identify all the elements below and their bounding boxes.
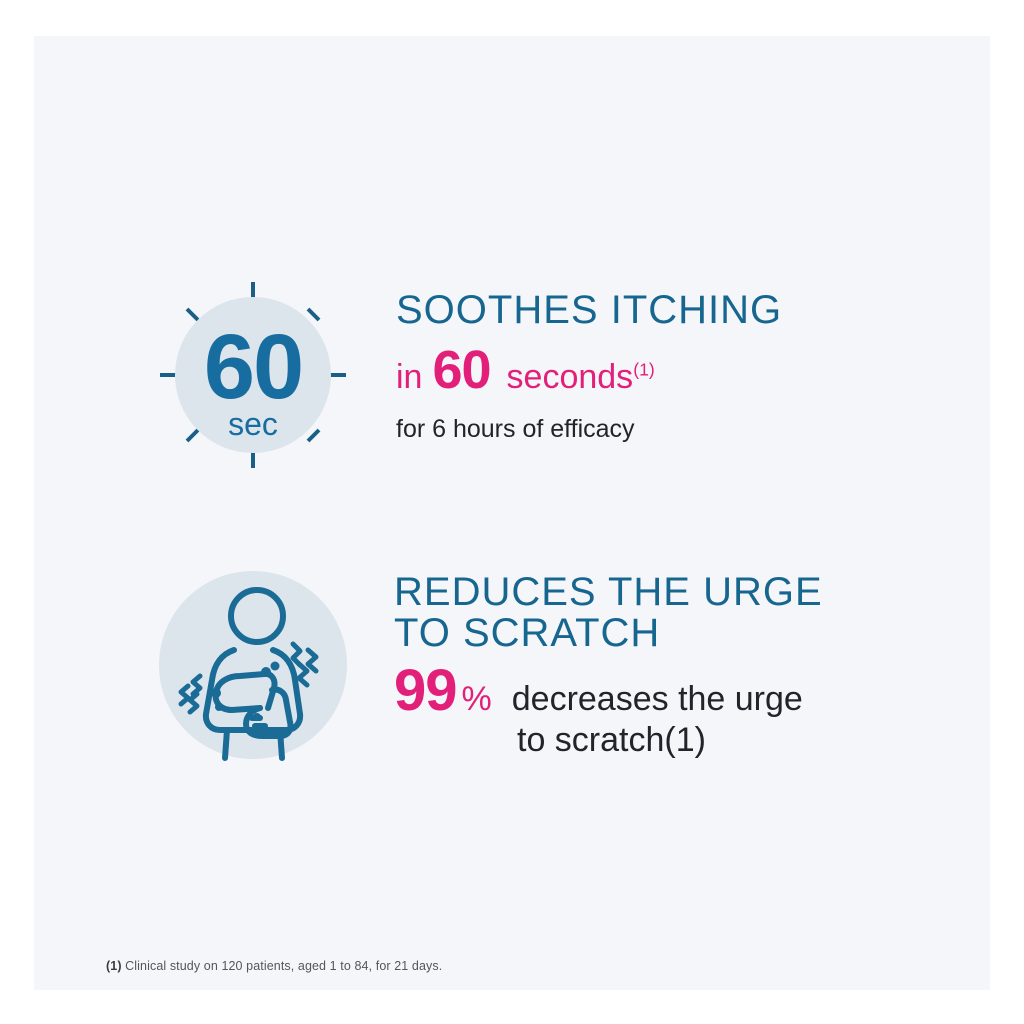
feature-2-stat-description-line-1: decreases the urge [512,681,803,717]
feature-1-text: SOOTHES ITCHING in 60 seconds(1) for 6 h… [396,280,782,444]
person-scratching-arm-icon [156,568,350,762]
infographic-page: 60 sec SOOTHES ITCHING in 60 seconds(1) … [0,0,1024,1024]
feature-2-stat-line-2: to scratch(1) [517,722,823,758]
feature-1-stat-tail-text: seconds [507,358,634,396]
footnote-marker: (1) [106,959,122,973]
feature-block-reduces-urge: REDUCES THE URGE TO SCRATCH 99 % decreas… [156,568,823,762]
svg-text:60: 60 [204,316,302,418]
feature-1-stat: in 60 seconds(1) [396,343,782,397]
feature-2-stat-description-line-2: to scratch [517,722,664,758]
sixty-second-stopwatch-icon: 60 sec [158,280,348,470]
feature-1-stat-tail: seconds(1) [507,360,655,394]
feature-block-soothes-itching: 60 sec SOOTHES ITCHING in 60 seconds(1) … [158,280,782,470]
feature-2-headline: REDUCES THE URGE TO SCRATCH [394,572,823,654]
feature-2-text: REDUCES THE URGE TO SCRATCH 99 % decreas… [394,568,823,758]
content-panel: 60 sec SOOTHES ITCHING in 60 seconds(1) … [34,36,990,990]
feature-1-headline: SOOTHES ITCHING [396,290,782,331]
feature-2-stat-value: 99 [394,662,457,720]
feature-1-subline: for 6 hours of efficacy [396,415,782,445]
feature-2-footnote-marker: (1) [664,722,706,758]
footnote: (1) Clinical study on 120 patients, aged… [106,959,442,973]
feature-2-stat-unit: % [462,682,492,716]
feature-1-stat-value: 60 [432,343,490,397]
feature-2-stat: 99 % decreases the urge [394,662,823,720]
feature-1-footnote-marker: (1) [633,359,655,379]
svg-text:sec: sec [228,406,278,442]
footnote-text: Clinical study on 120 patients, aged 1 t… [125,959,442,973]
feature-1-stat-lead: in [396,360,422,394]
